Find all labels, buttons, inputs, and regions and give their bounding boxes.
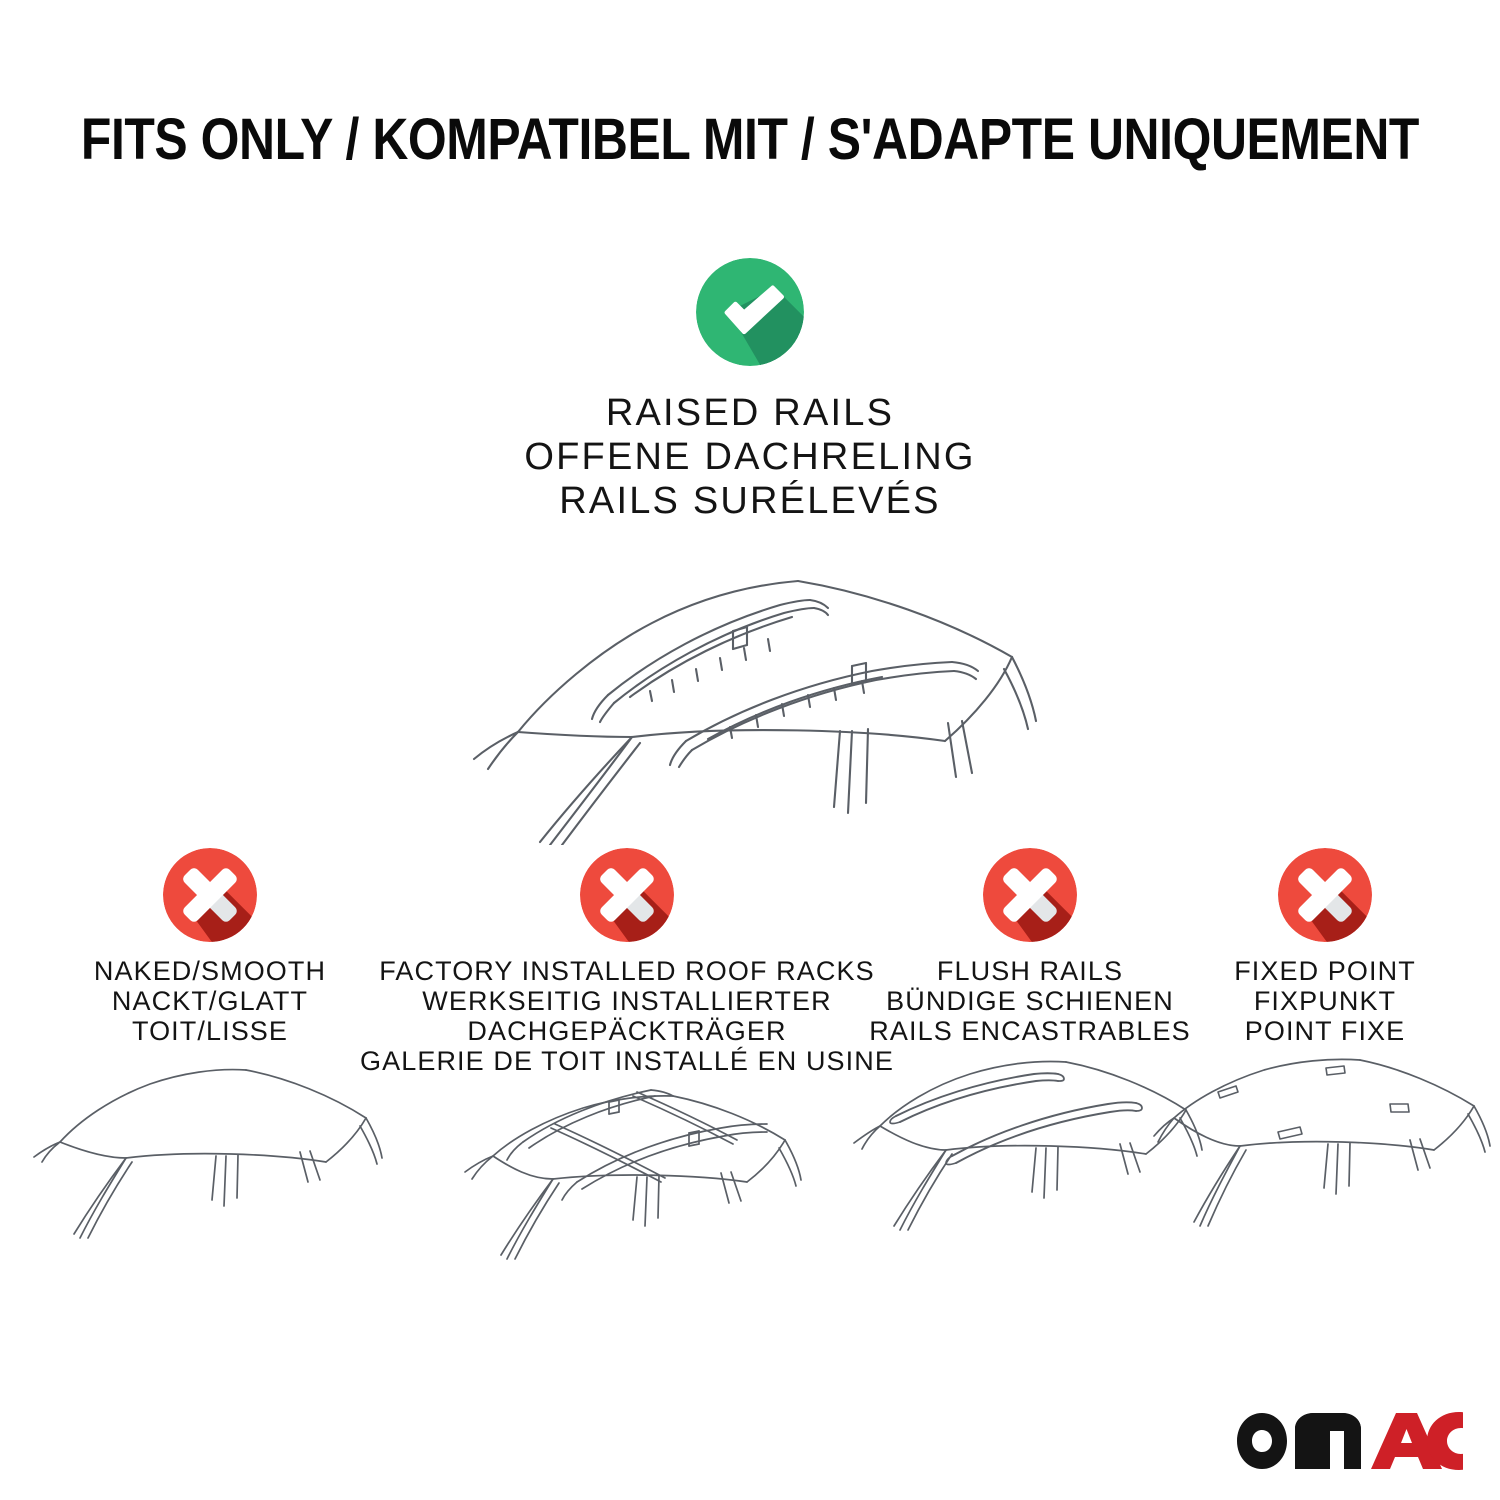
- rejected-label-fr: GALERIE DE TOIT INSTALLÉ EN USINE: [360, 1046, 894, 1076]
- rejected-label-de-2: DACHGEPÄCKTRÄGER: [360, 1016, 894, 1046]
- rejected-label-fr: TOIT/LISSE: [94, 1016, 326, 1046]
- approved-label-de: OFFENE DACHRELING: [524, 435, 975, 479]
- rejected-labels-naked-smooth: NAKED/SMOOTH NACKT/GLATT TOIT/LISSE: [94, 956, 326, 1046]
- cross-circle-icon: [163, 848, 257, 942]
- car-roof-naked-smooth-illustration: [20, 1056, 400, 1286]
- page-title-bar: FITS ONLY / KOMPATIBEL MIT / S'ADAPTE UN…: [0, 104, 1500, 176]
- rejected-label-fr: POINT FIXE: [1234, 1016, 1416, 1046]
- rejected-label-en: FIXED POINT: [1234, 956, 1416, 986]
- rejected-label-en: FLUSH RAILS: [869, 956, 1190, 986]
- rejected-labels-factory-racks: FACTORY INSTALLED ROOF RACKS WERKSEITIG …: [360, 956, 894, 1076]
- rejected-label-fr: RAILS ENCASTRABLES: [869, 1016, 1190, 1046]
- rejected-item-factory-racks: FACTORY INSTALLED ROOF RACKS WERKSEITIG …: [432, 848, 822, 1316]
- approved-labels: RAISED RAILS OFFENE DACHRELING RAILS SUR…: [524, 391, 975, 523]
- rejected-label-en: FACTORY INSTALLED ROOF RACKS: [360, 956, 894, 986]
- rejected-labels-flush-rails: FLUSH RAILS BÜNDIGE SCHIENEN RAILS ENCAS…: [869, 956, 1190, 1046]
- rejected-section: NAKED/SMOOTH NACKT/GLATT TOIT/LISSE: [0, 848, 1500, 1448]
- rejected-label-de: NACKT/GLATT: [94, 986, 326, 1016]
- cross-circle-icon: [1278, 848, 1372, 942]
- rejected-item-fixed-point: FIXED POINT FIXPUNKT POINT FIXE: [1150, 848, 1500, 1286]
- approved-section: RAISED RAILS OFFENE DACHRELING RAILS SUR…: [0, 258, 1500, 845]
- rejected-label-de: BÜNDIGE SCHIENEN: [869, 986, 1190, 1016]
- car-roof-factory-racks-illustration: [437, 1086, 817, 1316]
- rejected-label-en: NAKED/SMOOTH: [94, 956, 326, 986]
- cross-circle-icon: [580, 848, 674, 942]
- approved-label-en: RAISED RAILS: [524, 391, 975, 435]
- rejected-labels-fixed-point: FIXED POINT FIXPUNKT POINT FIXE: [1234, 956, 1416, 1046]
- rejected-label-de-1: WERKSEITIG INSTALLIERTER: [360, 986, 894, 1016]
- page-title: FITS ONLY / KOMPATIBEL MIT / S'ADAPTE UN…: [81, 111, 1419, 169]
- rejected-label-de: FIXPUNKT: [1234, 986, 1416, 1016]
- check-circle-icon: [696, 258, 804, 366]
- approved-label-fr: RAILS SURÉLEVÉS: [524, 479, 975, 523]
- car-roof-fixed-point-illustration: [1150, 1056, 1500, 1286]
- cross-circle-icon: [983, 848, 1077, 942]
- rejected-item-naked-smooth: NAKED/SMOOTH NACKT/GLATT TOIT/LISSE: [20, 848, 400, 1286]
- car-roof-raised-rails-illustration: [400, 545, 1100, 845]
- omac-logo: [1231, 1407, 1463, 1475]
